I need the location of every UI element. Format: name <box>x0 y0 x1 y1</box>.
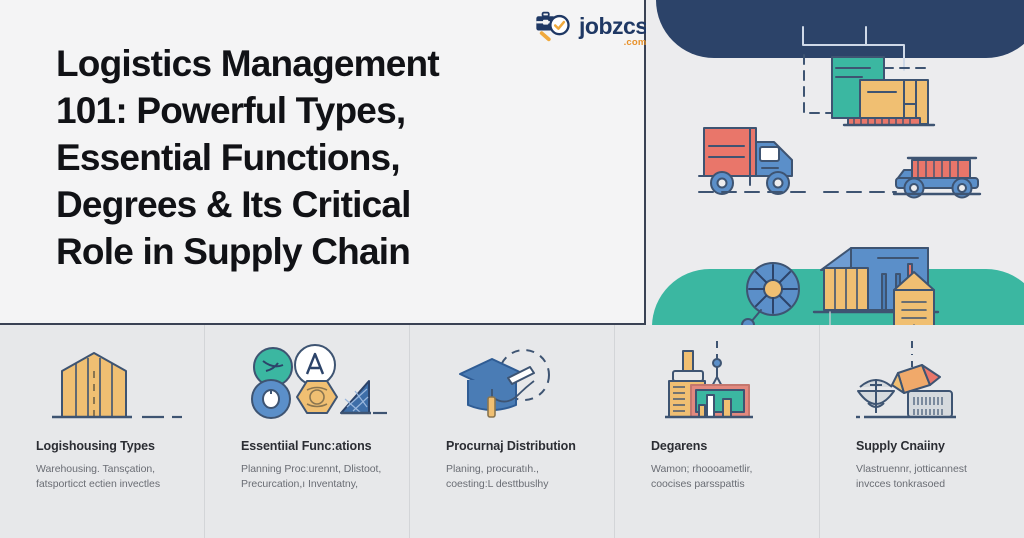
card-title: Degarens <box>633 439 801 453</box>
card-degrees[interactable]: Degarens Wamon; rhoooametlir, coocises p… <box>615 325 820 538</box>
title-line-4: Degrees & Its Critical <box>56 184 411 225</box>
card-description: Warehousing. Tansçation, fatsporticct ec… <box>18 462 186 492</box>
site-logo[interactable]: jobzcs .com <box>534 10 648 42</box>
hero-panel: Logistics Management 101: Powerful Types… <box>0 0 646 325</box>
title-line-1: Logistics Management <box>56 43 439 84</box>
logistics-scene-svg <box>646 0 1024 325</box>
graduation-cap-icon <box>428 325 596 437</box>
poster-canvas: Logistics Management 101: Powerful Types… <box>0 0 1024 538</box>
card-supply-chain[interactable]: Supply Cnaiiny Vlastruennr, jotticannest… <box>820 325 1024 538</box>
factory-crane-icon <box>633 325 801 437</box>
card-description: Planning Procːurennt, Dlistoot, Precurca… <box>223 462 391 492</box>
card-description: Wamon; rhoooametlir, coocises parsspatti… <box>633 462 801 492</box>
card-procurement-distribution[interactable]: Procurnaj Distribution Planing, procurat… <box>410 325 615 538</box>
logo-tld: .com <box>624 37 647 48</box>
card-description: Vlastruennr, jotticannest invcces tonkra… <box>838 462 1006 492</box>
page-title: Logistics Management 101: Powerful Types… <box>56 40 556 275</box>
title-line-5: Role in Supply Chain <box>56 231 410 272</box>
planning-cluster-icon <box>223 325 391 437</box>
card-title: Essentiial Funcːations <box>223 439 391 453</box>
card-title: Supply Cnaiiny <box>838 439 1006 453</box>
card-logistics-types[interactable]: Logishousing Types Warehousing. Tansçati… <box>0 325 205 538</box>
feature-card-strip: Logishousing Types Warehousing. Tansçati… <box>0 325 1024 538</box>
briefcase-magnifier-icon <box>534 10 576 42</box>
title-line-2: 101: Powerful Types, <box>56 90 405 131</box>
card-essential-functions[interactable]: Essentiial Funcːations Planning Procːure… <box>205 325 410 538</box>
logo-wordmark: jobzcs <box>579 13 648 39</box>
warehouse-icon <box>18 325 186 437</box>
illustration-panel <box>646 0 1024 325</box>
title-line-3: Essential Functions, <box>56 137 400 178</box>
card-title: Logishousing Types <box>18 439 186 453</box>
ship-port-icon <box>838 325 1006 437</box>
card-title: Procurnaj Distribution <box>428 439 596 453</box>
card-description: Planing, procuratıh., coesting:L desttbu… <box>428 462 596 492</box>
